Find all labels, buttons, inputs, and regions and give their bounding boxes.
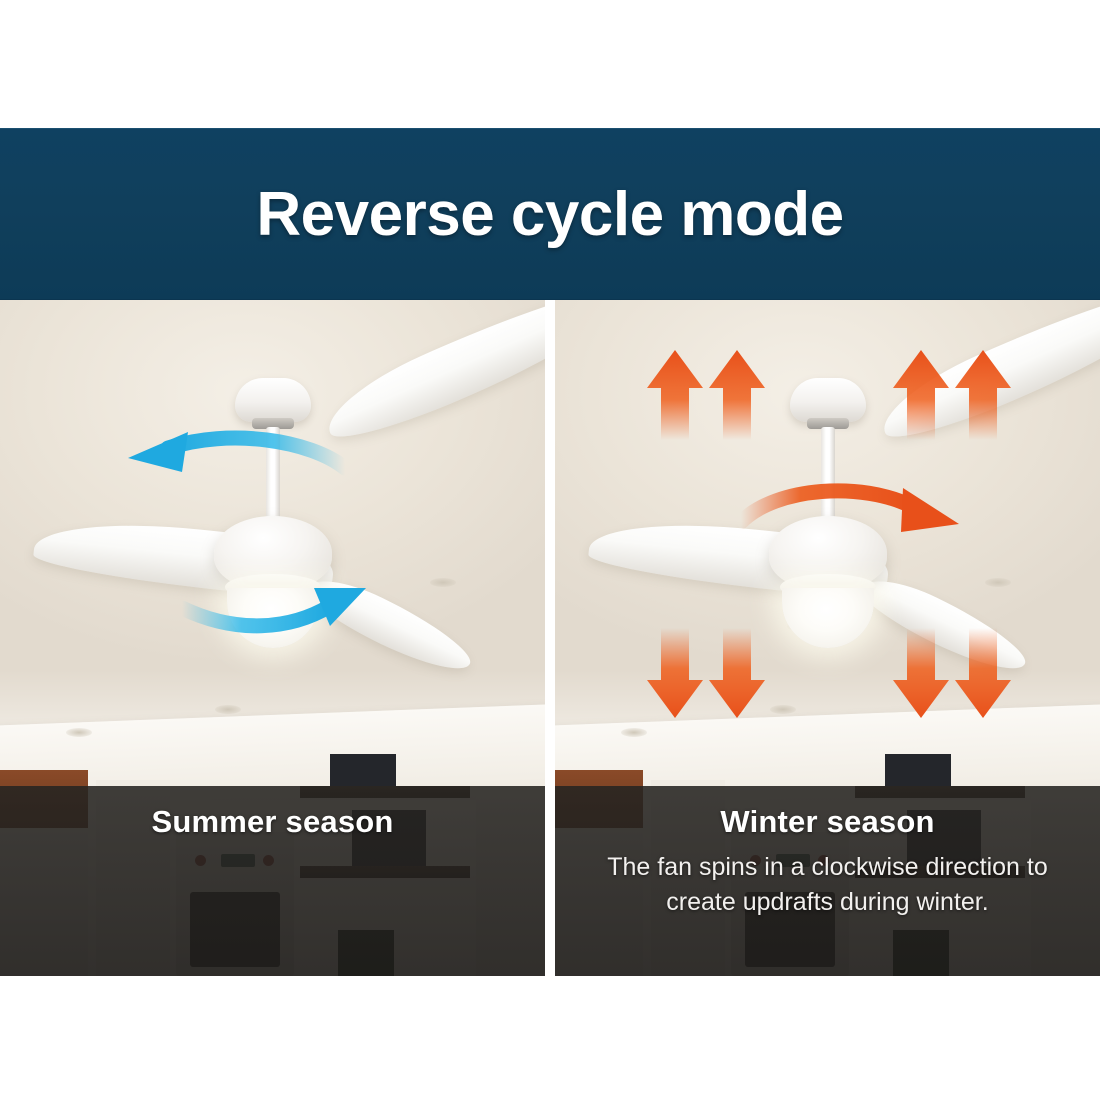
arrow-down-icon [893,628,949,718]
arrow-up-icon [955,350,1011,440]
panel-summer: Summer season [0,300,545,976]
comparison-panels: Summer season [0,300,1100,976]
caption-overlay-summer: Summer season [0,786,545,976]
caption-title-winter: Winter season [555,804,1100,840]
panel-winter: Winter season The fan spins in a clockwi… [555,300,1100,976]
arrow-down-icon [647,628,703,718]
infographic-page: Reverse cycle mode [0,0,1100,1100]
caption-title-summer: Summer season [0,804,545,840]
header-banner: Reverse cycle mode [0,128,1100,300]
arrow-up-icon [893,350,949,440]
arrow-right-curved-icon [741,488,959,532]
arrow-up-icon [709,350,765,440]
caption-body-winter: The fan spins in a clockwise direction t… [555,850,1100,919]
arrow-down-icon [955,628,1011,718]
panel-divider [545,300,555,976]
caption-overlay-winter: Winter season The fan spins in a clockwi… [555,786,1100,976]
arrow-up-icon [647,350,703,440]
arrow-left-curved-icon [128,432,345,472]
page-title: Reverse cycle mode [256,179,843,250]
arrow-right-curved-icon [182,588,366,626]
arrow-down-icon [709,628,765,718]
